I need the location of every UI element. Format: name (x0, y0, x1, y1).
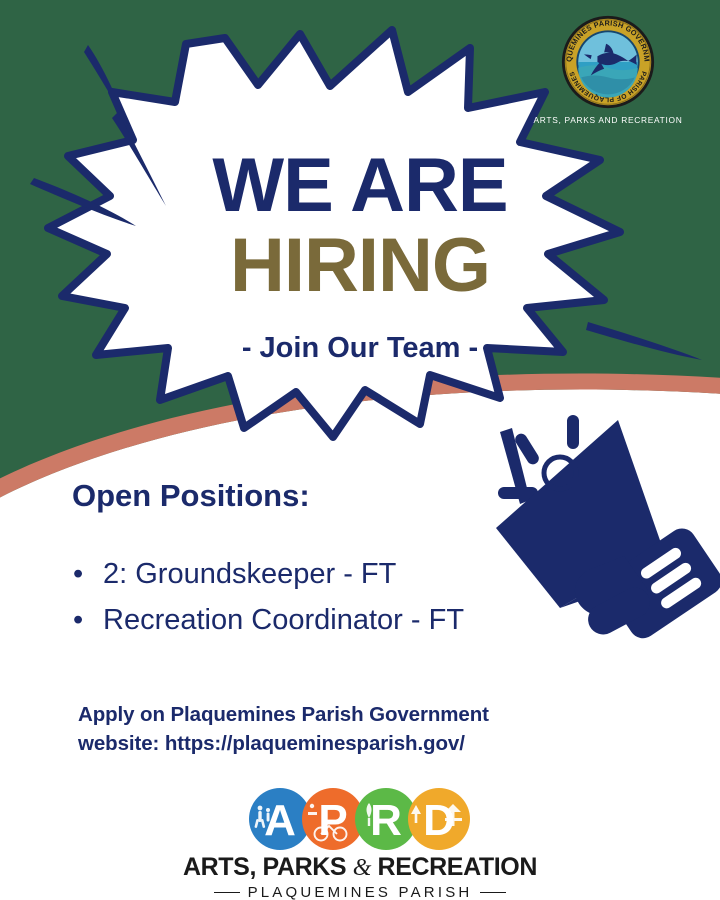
aprd-tagline-part2: RECREATION (371, 853, 537, 881)
plaquemines-parish-seal-icon: PLAQUEMINES PARISH GOVERNMENT PARISH OF … (560, 14, 656, 110)
department-label: ARTS, PARKS AND RECREATION (510, 115, 706, 125)
apply-website-link[interactable]: website: https://plaqueminesparish.gov/ (78, 729, 618, 758)
aprd-tagline: ARTS, PARKS & RECREATION (0, 853, 720, 882)
poster-artwork (0, 0, 720, 900)
bullet-icon: • (73, 598, 83, 644)
list-item: • 2: Groundskeeper - FT (70, 552, 464, 598)
bullet-icon: • (73, 552, 83, 598)
aprd-logo: A P R D ARTS, PARKS & RECREATION PLAQUEM… (0, 788, 720, 900)
seal-block: PLAQUEMINES PARISH GOVERNMENT PARISH OF … (510, 14, 706, 125)
apply-line-1: Apply on Plaquemines Parish Government (78, 700, 618, 729)
position-label: Recreation Coordinator - FT (103, 604, 464, 636)
headline-line-2: HIRING (0, 228, 720, 304)
svg-text:D: D (423, 796, 455, 845)
headline-subtitle: - Join Our Team - (0, 332, 720, 365)
svg-text:P: P (318, 796, 347, 845)
aprd-subtitle-row: PLAQUEMINES PARISH (0, 884, 720, 900)
headline-line-1: WE ARE (0, 148, 720, 224)
rule-right (480, 892, 506, 894)
list-item: • Recreation Coordinator - FT (70, 598, 464, 644)
hiring-poster: PLAQUEMINES PARISH GOVERNMENT PARISH OF … (0, 0, 720, 900)
svg-text:A: A (264, 796, 296, 845)
position-label: 2: Groundskeeper - FT (103, 558, 396, 590)
ampersand-icon: & (353, 855, 371, 881)
open-positions-list: • 2: Groundskeeper - FT • Recreation Coo… (70, 552, 464, 644)
open-positions-heading: Open Positions: (72, 478, 310, 514)
svg-text:R: R (370, 796, 402, 845)
rule-left (214, 892, 240, 894)
aprd-subtitle: PLAQUEMINES PARISH (248, 884, 473, 900)
aprd-tagline-part1: ARTS, PARKS (183, 853, 353, 881)
aprd-letter-circles: A P R D (242, 788, 478, 850)
apply-instructions: Apply on Plaquemines Parish Government w… (78, 700, 618, 758)
